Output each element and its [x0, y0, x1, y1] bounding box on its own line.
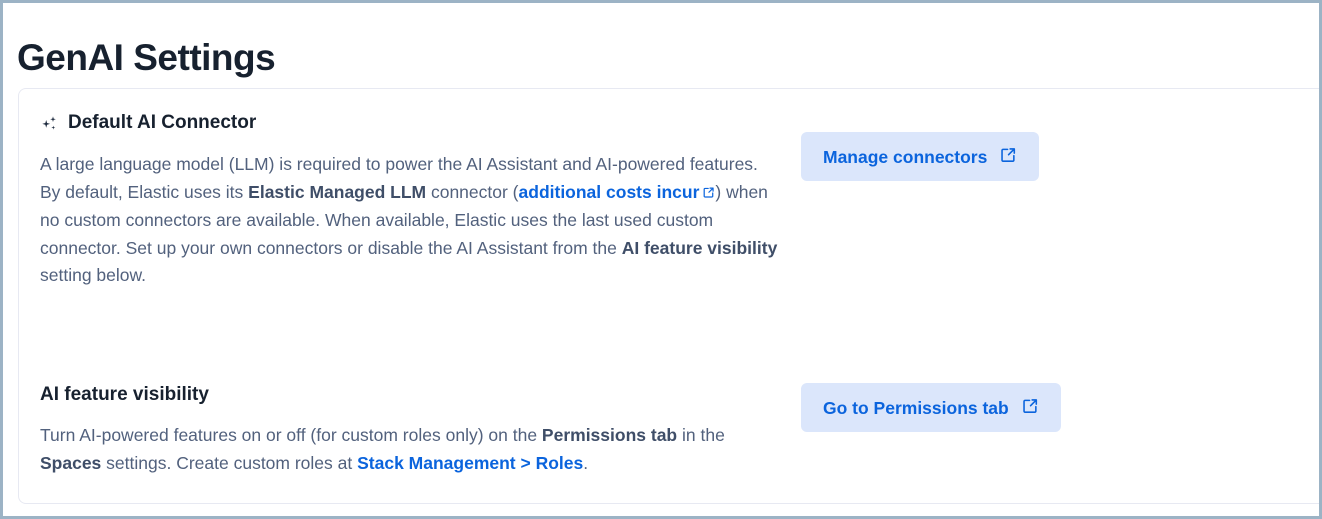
stack-management-roles-link-label: Stack Management > Roles [357, 453, 583, 473]
ai-feature-visibility-heading: AI feature visibility [40, 383, 780, 407]
default-ai-connector-description: A large language model (LLM) is required… [40, 151, 780, 290]
visibility-bold-permissions-tab: Permissions tab [542, 425, 677, 445]
visibility-bold-spaces: Spaces [40, 453, 101, 473]
genai-settings-panel: Default AI Connector A large language mo… [18, 88, 1322, 504]
additional-costs-incur-link[interactable]: additional costs incur [519, 182, 716, 202]
additional-costs-incur-link-label: additional costs incur [519, 182, 700, 202]
manage-connectors-button-label: Manage connectors [823, 146, 987, 168]
description-part-2: connector ( [426, 182, 518, 202]
section-ai-feature-visibility-content: AI feature visibility Turn AI-powered fe… [40, 383, 780, 477]
section-default-ai-connector-content: Default AI Connector A large language mo… [40, 111, 780, 290]
page-title: GenAI Settings [17, 30, 275, 86]
external-link-icon [999, 146, 1017, 169]
description-bold-elastic-managed-llm: Elastic Managed LLM [248, 182, 426, 202]
go-to-permissions-tab-button[interactable]: Go to Permissions tab [801, 383, 1061, 432]
ai-feature-visibility-heading-label: AI feature visibility [40, 383, 209, 407]
stack-management-roles-link[interactable]: Stack Management > Roles [357, 453, 583, 473]
external-link-icon [702, 180, 715, 208]
ai-feature-visibility-description: Turn AI-powered features on or off (for … [40, 422, 780, 477]
description-bold-ai-feature-visibility: AI feature visibility [622, 238, 778, 258]
visibility-part-4: . [583, 453, 588, 473]
visibility-part-3: settings. Create custom roles at [101, 453, 357, 473]
default-ai-connector-heading: Default AI Connector [40, 111, 780, 135]
sparkles-icon [40, 115, 59, 134]
settings-window: GenAI Settings Default AI Connector A la… [0, 0, 1322, 519]
manage-connectors-button[interactable]: Manage connectors [801, 132, 1039, 181]
default-ai-connector-heading-label: Default AI Connector [68, 111, 256, 135]
external-link-icon [1021, 397, 1039, 420]
visibility-part-1: Turn AI-powered features on or off (for … [40, 425, 542, 445]
go-to-permissions-tab-button-label: Go to Permissions tab [823, 397, 1009, 419]
visibility-part-2: in the [677, 425, 725, 445]
description-part-4: setting below. [40, 265, 146, 285]
